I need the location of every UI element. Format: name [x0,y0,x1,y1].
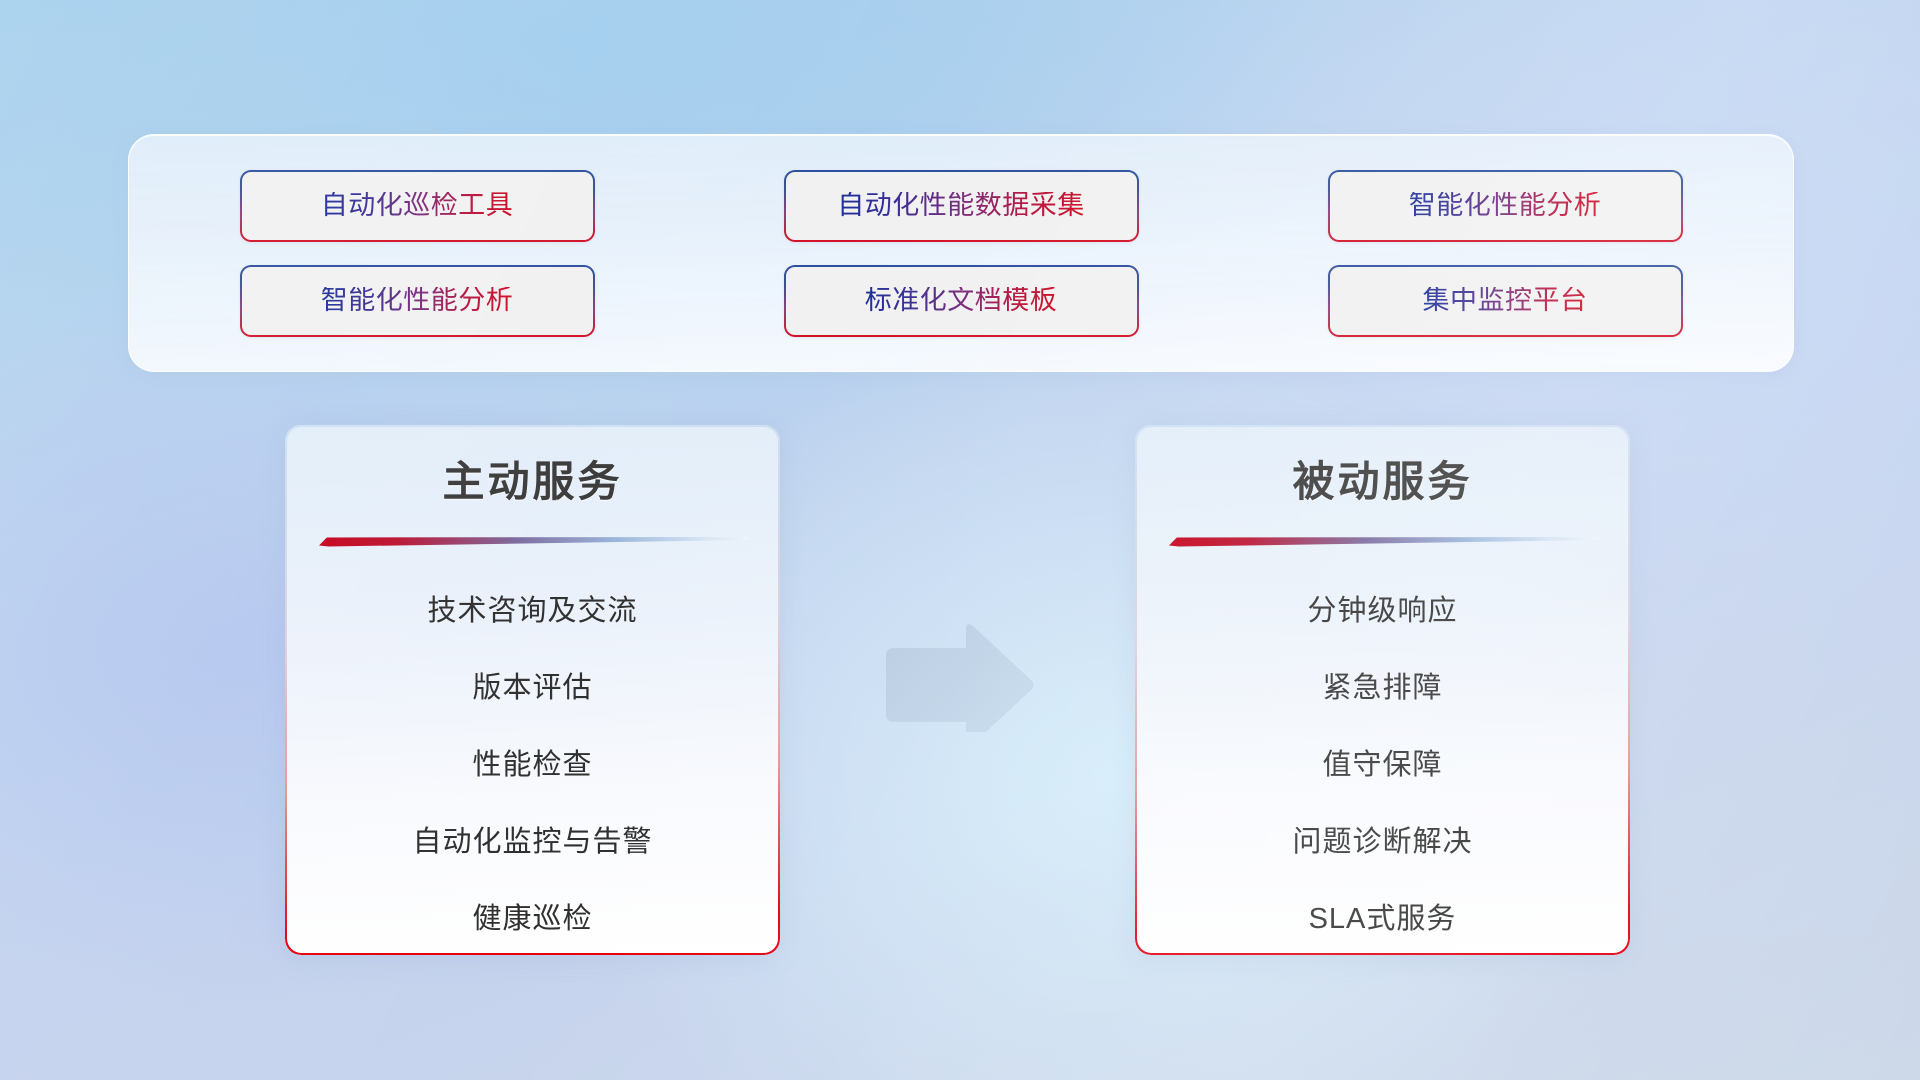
capability-pill-grid: 自动化巡检工具 自动化性能数据采集 智能化性能分析 智能化性能分析 标准化文档模… [183,169,1739,337]
capability-pill-2[interactable]: 自动化性能数据采集 [784,170,1139,242]
service-list-item: 问题诊断解决 [1161,804,1604,881]
service-list-item: 自动化监控与告警 [311,804,754,881]
title-divider [1169,535,1598,547]
service-card-reactive: 被动服务 分钟级响应 紧急排障 值守保障 [1135,425,1630,955]
capability-pill-label: 智能化性能分析 [1409,192,1602,219]
title-divider [319,535,748,547]
card-title: 主动服务 [311,459,754,505]
capability-pill-label: 自动化性能数据采集 [837,192,1085,219]
capability-pill-4[interactable]: 智能化性能分析 [240,265,595,337]
service-item-list: 技术咨询及交流 版本评估 性能检查 自动化监控与告警 健康巡检 [311,573,754,958]
capability-pill-label: 集中监控平台 [1423,287,1588,314]
capability-pill-6[interactable]: 集中监控平台 [1328,265,1683,337]
service-card-proactive: 主动服务 技术咨询及交流 版本评估 性能检查 [285,425,780,955]
capability-panel: 自动化巡检工具 自动化性能数据采集 智能化性能分析 智能化性能分析 标准化文档模… [128,134,1794,372]
capability-pill-label: 标准化文档模板 [865,287,1058,314]
slide-canvas: 自动化巡检工具 自动化性能数据采集 智能化性能分析 智能化性能分析 标准化文档模… [0,0,1920,1080]
card-title: 被动服务 [1161,459,1604,505]
right-arrow-icon [876,620,1036,732]
capability-pill-1[interactable]: 自动化巡检工具 [240,170,595,242]
service-list-item: 紧急排障 [1161,650,1604,727]
capability-pill-3[interactable]: 智能化性能分析 [1328,170,1683,242]
capability-pill-5[interactable]: 标准化文档模板 [784,265,1139,337]
capability-pill-label: 智能化性能分析 [321,287,514,314]
capability-pill-label: 自动化巡检工具 [321,192,514,219]
service-item-list: 分钟级响应 紧急排障 值守保障 问题诊断解决 SLA式服务 [1161,573,1604,958]
service-list-item: 值守保障 [1161,727,1604,804]
service-list-item: 性能检查 [311,727,754,804]
service-list-item: 技术咨询及交流 [311,573,754,650]
service-list-item: SLA式服务 [1161,881,1604,958]
service-list-item: 版本评估 [311,650,754,727]
service-list-item: 分钟级响应 [1161,573,1604,650]
service-list-item: 健康巡检 [311,881,754,958]
